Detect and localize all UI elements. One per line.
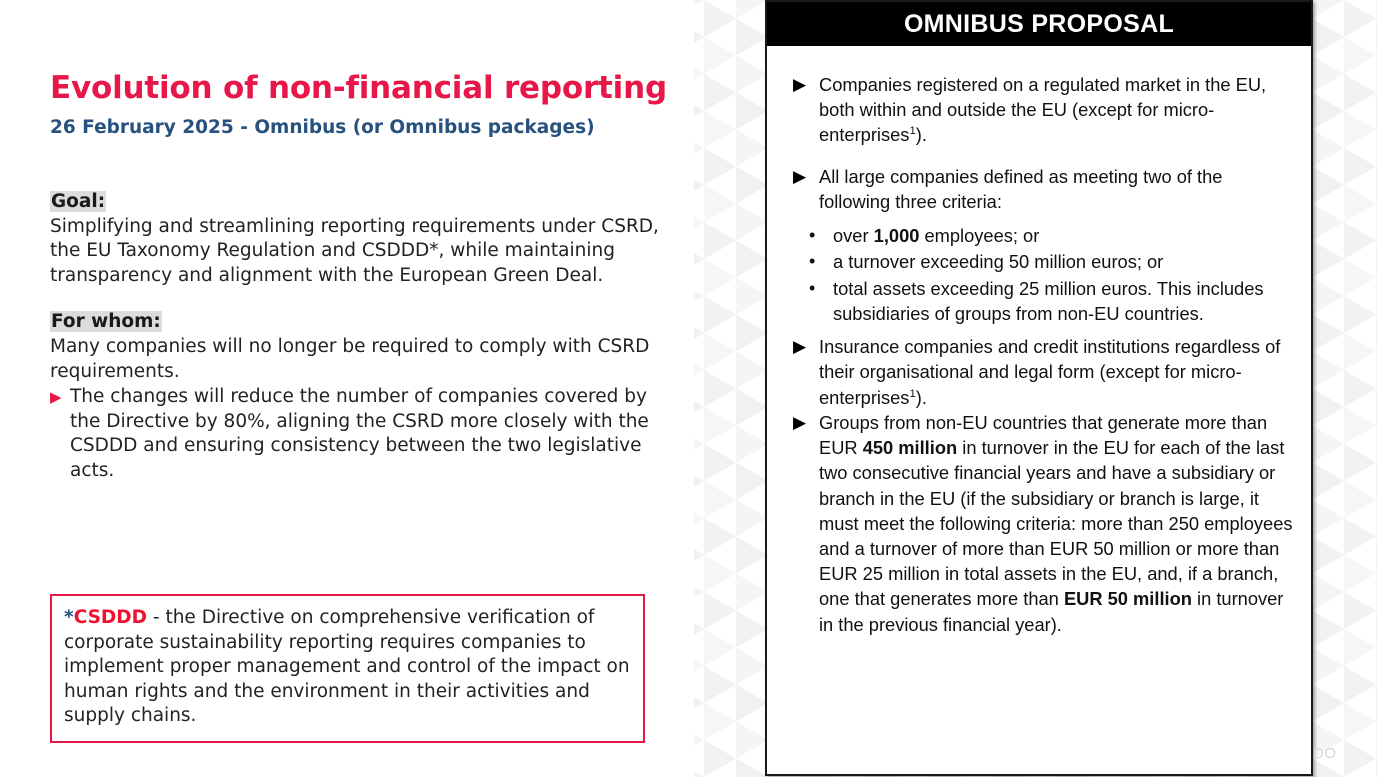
omnibus-proposal-panel: OMNIBUS PROPOSAL ▶ Companies registered … <box>765 0 1313 776</box>
for-whom-heading-line: For whom: <box>50 310 680 335</box>
omnibus-item-3: Insurance companies and credit instituti… <box>819 334 1293 410</box>
slide-canvas: Evolution of non-financial reporting 26 … <box>0 0 1377 777</box>
omnibus-criterion-1-value: 1,000 <box>874 225 920 246</box>
omnibus-panel-body: ▶ Companies registered on a regulated ma… <box>767 46 1311 641</box>
dot-bullet-icon: • <box>785 276 833 301</box>
triangle-bullet-icon: ▶ <box>50 385 70 410</box>
list-item: ▶ Groups from non-EU countries that gene… <box>785 410 1293 637</box>
list-item: • total assets exceeding 25 million euro… <box>785 276 1293 326</box>
omnibus-item-4-b: in turnover in the EU for each of the la… <box>819 437 1293 609</box>
list-item: • over 1,000 employees; or <box>785 223 1293 248</box>
triangle-bullet-icon: ▶ <box>785 334 819 359</box>
omnibus-item-3-text-a: Insurance companies and credit instituti… <box>819 336 1280 407</box>
omnibus-item-1-text-a: Companies registered on a regulated mark… <box>819 74 1266 145</box>
footnote-asterisk: * <box>64 607 74 628</box>
omnibus-criterion-2: a turnover exceeding 50 million euros; o… <box>833 249 1293 274</box>
page-subtitle: 26 February 2025 - Omnibus (or Omnibus p… <box>50 117 595 138</box>
goal-heading-line: Goal: <box>50 190 680 215</box>
omnibus-item-3-text-b: ). <box>916 387 927 408</box>
omnibus-item-1: Companies registered on a regulated mark… <box>819 72 1293 148</box>
list-item: • a turnover exceeding 50 million euros;… <box>785 249 1293 274</box>
omnibus-panel-header: OMNIBUS PROPOSAL <box>767 2 1311 46</box>
for-whom-paragraph: Many companies will no longer be require… <box>50 335 680 384</box>
for-whom-bullet-text: The changes will reduce the number of co… <box>70 385 680 483</box>
page-title: Evolution of non-financial reporting <box>50 70 667 106</box>
left-body-text: Goal: Simplifying and streamlining repor… <box>50 190 680 484</box>
section-spacer <box>50 288 680 310</box>
omnibus-item-1-text-b: ). <box>916 124 927 145</box>
omnibus-criterion-1: over 1,000 employees; or <box>833 223 1293 248</box>
list-item: ▶ Companies registered on a regulated ma… <box>785 72 1293 148</box>
triangle-bullet-icon: ▶ <box>785 72 819 97</box>
triangle-bullet-icon: ▶ <box>785 164 819 189</box>
list-item: ▶ The changes will reduce the number of … <box>50 385 680 483</box>
list-item: ▶ Insurance companies and credit institu… <box>785 334 1293 410</box>
triangle-bullet-icon: ▶ <box>785 410 819 435</box>
list-item: ▶ All large companies defined as meeting… <box>785 164 1293 214</box>
for-whom-section: For whom: Many companies will no longer … <box>50 310 680 483</box>
goal-heading: Goal: <box>50 191 106 212</box>
dot-bullet-icon: • <box>785 249 833 274</box>
omnibus-item-4-value-2: EUR 50 million <box>1064 588 1192 609</box>
footnote-acronym: CSDDD <box>74 607 147 628</box>
omnibus-criterion-1-b: employees; or <box>919 225 1039 246</box>
dot-bullet-icon: • <box>785 223 833 248</box>
for-whom-heading: For whom: <box>50 311 162 332</box>
goal-section: Goal: Simplifying and streamlining repor… <box>50 190 680 288</box>
csddd-footnote-box: *CSDDD - the Directive on comprehensive … <box>50 594 645 743</box>
omnibus-criteria-sublist: • over 1,000 employees; or • a turnover … <box>785 223 1293 326</box>
omnibus-item-4-value-1: 450 million <box>863 437 958 458</box>
omnibus-criterion-1-a: over <box>833 225 874 246</box>
omnibus-item-2: All large companies defined as meeting t… <box>819 164 1293 214</box>
omnibus-criterion-3: total assets exceeding 25 million euros.… <box>833 276 1293 326</box>
footnote-text: - the Directive on comprehensive verific… <box>64 607 630 726</box>
omnibus-item-4: Groups from non-EU countries that genera… <box>819 410 1293 637</box>
goal-paragraph: Simplifying and streamlining reporting r… <box>50 215 680 289</box>
watermark-text: DO <box>1313 745 1337 762</box>
